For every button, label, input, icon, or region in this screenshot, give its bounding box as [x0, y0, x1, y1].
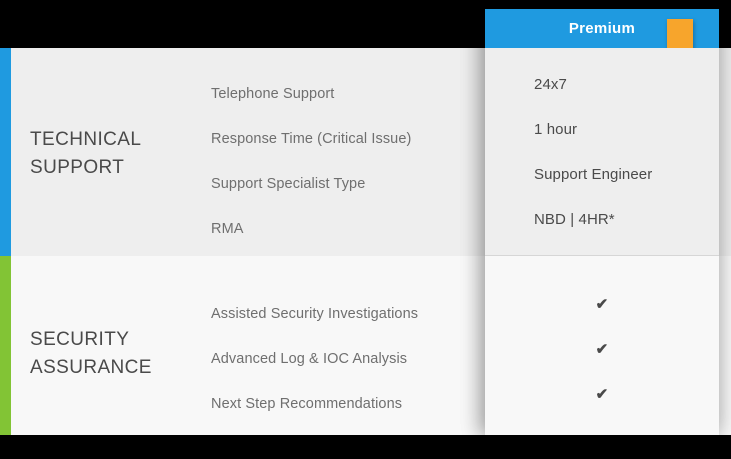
section-title-technical-support: TECHNICAL SUPPORT	[30, 126, 195, 182]
plan-value: NBD | 4HR*	[534, 197, 709, 242]
accent-bar-technical-support	[0, 48, 11, 256]
check-icon: ✔	[485, 372, 719, 417]
feature-label: Next Step Recommendations	[211, 381, 481, 426]
comparison-table-screenshot: TECHNICAL SUPPORT Telephone Support Resp…	[0, 0, 731, 459]
feature-label: Response Time (Critical Issue)	[211, 116, 481, 161]
feature-label: Support Specialist Type	[211, 161, 481, 206]
feature-label: Advanced Log & IOC Analysis	[211, 336, 481, 381]
accent-bar-security-assurance	[0, 256, 11, 435]
check-icon: ✔	[485, 327, 719, 372]
plan-value: Support Engineer	[534, 152, 709, 197]
feature-label: Assisted Security Investigations	[211, 291, 481, 336]
plan-header-premium: Premium	[485, 9, 719, 48]
plan-values-security-assurance: ✔ ✔ ✔	[485, 256, 719, 435]
plan-values-technical-support: 24x7 1 hour Support Engineer NBD | 4HR*	[485, 48, 719, 256]
plan-value: 24x7	[534, 62, 709, 107]
feature-label: Telephone Support	[211, 71, 481, 116]
plan-name-label: Premium	[569, 20, 635, 37]
plan-value: 1 hour	[534, 107, 709, 152]
feature-label: RMA	[211, 206, 481, 251]
section-title-security-assurance: SECURITY ASSURANCE	[30, 326, 195, 382]
feature-label-column-technical-support: Telephone Support Response Time (Critica…	[211, 71, 481, 251]
feature-label-column-security-assurance: Assisted Security Investigations Advance…	[211, 291, 481, 426]
check-icon: ✔	[485, 282, 719, 327]
plan-column-premium[interactable]: Premium 24x7 1 hour Support Engineer NBD…	[485, 9, 719, 435]
